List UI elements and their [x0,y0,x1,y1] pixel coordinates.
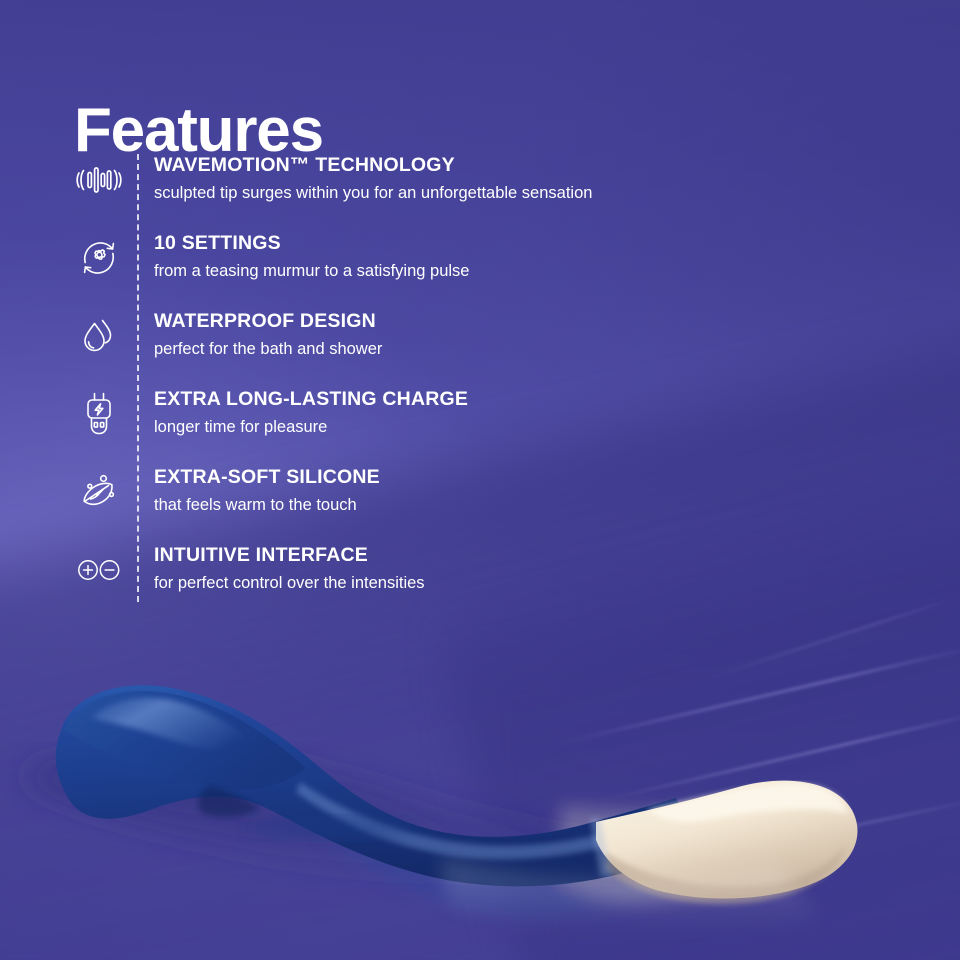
gear-cycle-icon [70,230,128,286]
feature-subtitle: from a teasing murmur to a satisfying pu… [154,261,469,282]
feature-item-extra-soft-silicone[interactable]: EXTRA-SOFT SILICONE that feels warm to t… [70,462,770,540]
feature-text-block: WAVEMOTION™ TECHNOLOGY sculpted tip surg… [154,150,592,205]
feature-subtitle: sculpted tip surges within you for an un… [154,183,592,204]
feature-text-block: INTUITIVE INTERFACE for perfect control … [154,540,425,595]
feature-title: EXTRA-SOFT SILICONE [154,466,380,489]
feature-list: WAVEMOTION™ TECHNOLOGY sculpted tip surg… [70,150,770,618]
soundwave-icon [70,152,128,208]
feature-subtitle: for perfect control over the intensities [154,573,425,594]
feature-item-wavemotion-technology[interactable]: WAVEMOTION™ TECHNOLOGY sculpted tip surg… [70,150,770,228]
feature-title: WATERPROOF DESIGN [154,310,382,333]
feature-text-block: EXTRA-SOFT SILICONE that feels warm to t… [154,462,380,517]
feature-title: INTUITIVE INTERFACE [154,544,425,567]
feature-subtitle: longer time for pleasure [154,417,468,438]
feature-subtitle: perfect for the bath and shower [154,339,382,360]
feather-sparkle-icon [70,464,128,520]
plus-minus-icon [70,542,128,598]
water-drops-icon [70,308,128,364]
feature-page: Features [0,0,960,960]
content-overlay: Features [0,0,960,960]
feature-text-block: WATERPROOF DESIGN perfect for the bath a… [154,306,382,361]
feature-title: EXTRA LONG-LASTING CHARGE [154,388,468,411]
feature-text-block: 10 SETTINGS from a teasing murmur to a s… [154,228,469,283]
feature-subtitle: that feels warm to the touch [154,495,380,516]
feature-title: 10 SETTINGS [154,232,469,255]
feature-item-10-settings[interactable]: 10 SETTINGS from a teasing murmur to a s… [70,228,770,306]
feature-text-block: EXTRA LONG-LASTING CHARGE longer time fo… [154,384,468,439]
feature-item-waterproof-design[interactable]: WATERPROOF DESIGN perfect for the bath a… [70,306,770,384]
feature-item-long-lasting-charge[interactable]: EXTRA LONG-LASTING CHARGE longer time fo… [70,384,770,462]
feature-item-intuitive-interface[interactable]: INTUITIVE INTERFACE for perfect control … [70,540,770,618]
feature-title: WAVEMOTION™ TECHNOLOGY [154,154,592,177]
charger-plug-bolt-icon [70,386,128,442]
